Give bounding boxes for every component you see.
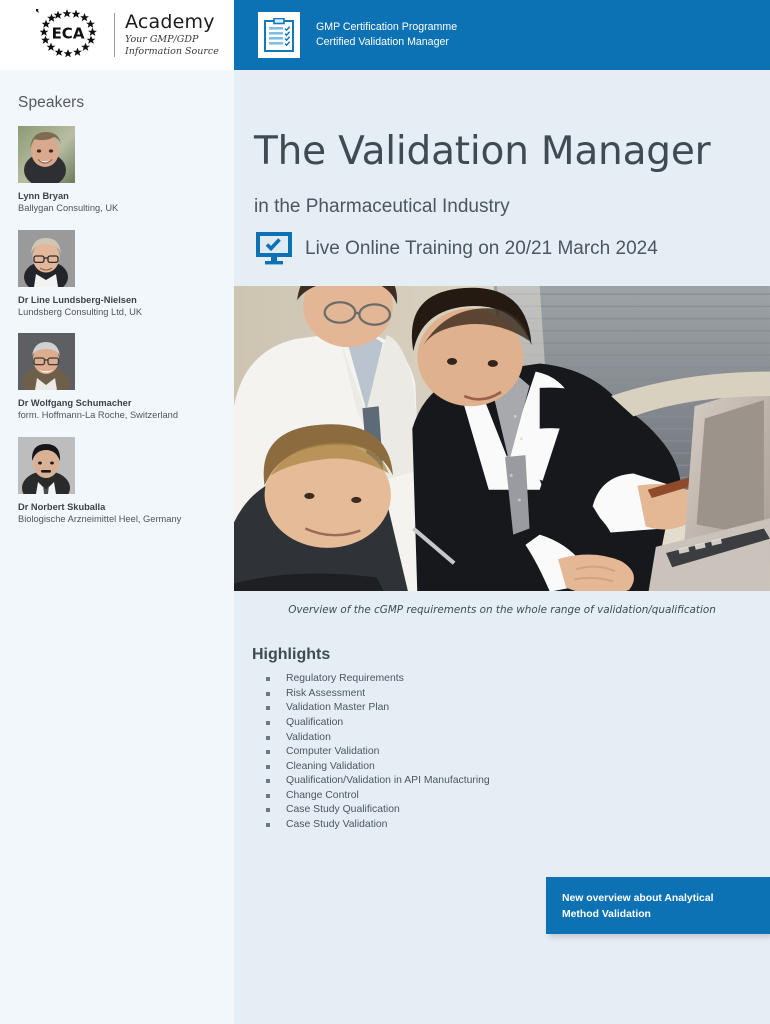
hero-section: The Validation Manager in the Pharmaceut… [234,70,770,266]
logo-tagline-line2: Information Source [125,46,219,57]
speaker-photo-norbert-skuballa [18,437,75,494]
analytical-method-validation-callout: New overview about Analytical Method Val… [546,877,770,934]
highlight-text: Validation [286,732,331,743]
logo-tagline-line1: Your GMP/GDP [125,34,219,45]
bullet-icon [266,779,270,783]
bullet-icon [266,677,270,681]
speakers-heading: Speakers [18,94,216,112]
bullet-icon [266,823,270,827]
list-item: Case Study Qualification [266,803,770,818]
training-date-text: Live Online Training on 20/21 March 2024 [305,239,658,258]
speaker-name: Dr Norbert Skuballa [18,501,216,513]
speaker-org: Lundsberg Consulting Ltd, UK [18,306,216,318]
list-item: Computer Validation [266,745,770,760]
brochure-page: ECA Academy Your GMP/GDP Information Sou… [0,0,770,1024]
highlights-heading: Highlights [252,646,770,664]
speaker-item: Dr Line Lundsberg-Nielsen Lundsberg Cons… [18,230,216,319]
highlight-text: Qualification [286,717,343,728]
photo-caption: Overview of the cGMP requirements on the… [234,604,770,616]
list-item: Validation Master Plan [266,701,770,716]
bullet-icon [266,721,270,725]
programme-banner: GMP Certification Programme Certified Va… [234,0,770,70]
highlight-text: Case Study Validation [286,819,387,830]
banner-line-2: Certified Validation Manager [316,35,457,50]
eca-stars-icon: ECA [36,9,108,61]
highlight-text: Regulatory Requirements [286,673,404,684]
bullet-icon [266,794,270,798]
main-content: GMP Certification Programme Certified Va… [234,0,770,1024]
speaker-org: form. Hoffmann-La Roche, Switzerland [18,409,216,421]
list-item: Risk Assessment [266,687,770,702]
speaker-org: Ballygan Consulting, UK [18,202,216,214]
logo-divider [114,13,115,57]
list-item: Qualification [266,716,770,731]
highlights-list: Regulatory Requirements Risk Assessment … [234,672,770,833]
speaker-name: Dr Wolfgang Schumacher [18,397,216,409]
page-title: The Validation Manager [254,132,770,171]
sidebar: ECA Academy Your GMP/GDP Information Sou… [0,0,234,1024]
clipboard-checklist-icon [258,12,300,58]
bullet-icon [266,750,270,754]
list-item: Validation [266,731,770,746]
banner-line-1: GMP Certification Programme [316,20,457,35]
list-item: Change Control [266,789,770,804]
list-item: Case Study Validation [266,818,770,833]
speaker-photo-line-lundsberg-nielsen [18,230,75,287]
highlight-text: Cleaning Validation [286,761,375,772]
speaker-org: Biologische Arzneimittel Heel, Germany [18,513,216,525]
bullet-icon [266,736,270,740]
list-item: Cleaning Validation [266,760,770,775]
eca-academy-logo: ECA Academy Your GMP/GDP Information Sou… [36,9,219,61]
callout-line-1: New overview about Analytical [562,891,754,907]
speaker-item: Dr Norbert Skuballa Biologische Arzneimi… [18,437,216,526]
training-date-row: Live Online Training on 20/21 March 2024 [254,230,770,266]
list-item: Qualification/Validation in API Manufact… [266,774,770,789]
highlight-text: Qualification/Validation in API Manufact… [286,775,490,786]
highlight-text: Change Control [286,790,359,801]
list-item: Regulatory Requirements [266,672,770,687]
speaker-photo-lynn-bryan [18,126,75,183]
speaker-name: Lynn Bryan [18,190,216,202]
speaker-name: Dr Line Lundsberg-Nielsen [18,294,216,306]
highlight-text: Validation Master Plan [286,702,389,713]
logo-brand-name: Academy [125,13,219,33]
highlight-text: Computer Validation [286,746,379,757]
highlight-text: Case Study Qualification [286,804,400,815]
logo-header: ECA Academy Your GMP/GDP Information Sou… [0,0,234,70]
businessmen-with-laptop-photo [234,286,770,591]
bullet-icon [266,808,270,812]
speakers-panel: Speakers [0,94,234,525]
bullet-icon [266,765,270,769]
bullet-icon [266,692,270,696]
highlight-text: Risk Assessment [286,688,365,699]
speaker-item: Lynn Bryan Ballygan Consulting, UK [18,126,216,215]
speaker-item: Dr Wolfgang Schumacher form. Hoffmann-La… [18,333,216,422]
speaker-photo-wolfgang-schumacher [18,333,75,390]
monitor-checkmark-icon [254,230,294,266]
eca-logo-mark-text: ECA [52,25,85,43]
bullet-icon [266,706,270,710]
callout-line-2: Method Validation [562,907,754,923]
page-subtitle: in the Pharmaceutical Industry [254,197,770,218]
